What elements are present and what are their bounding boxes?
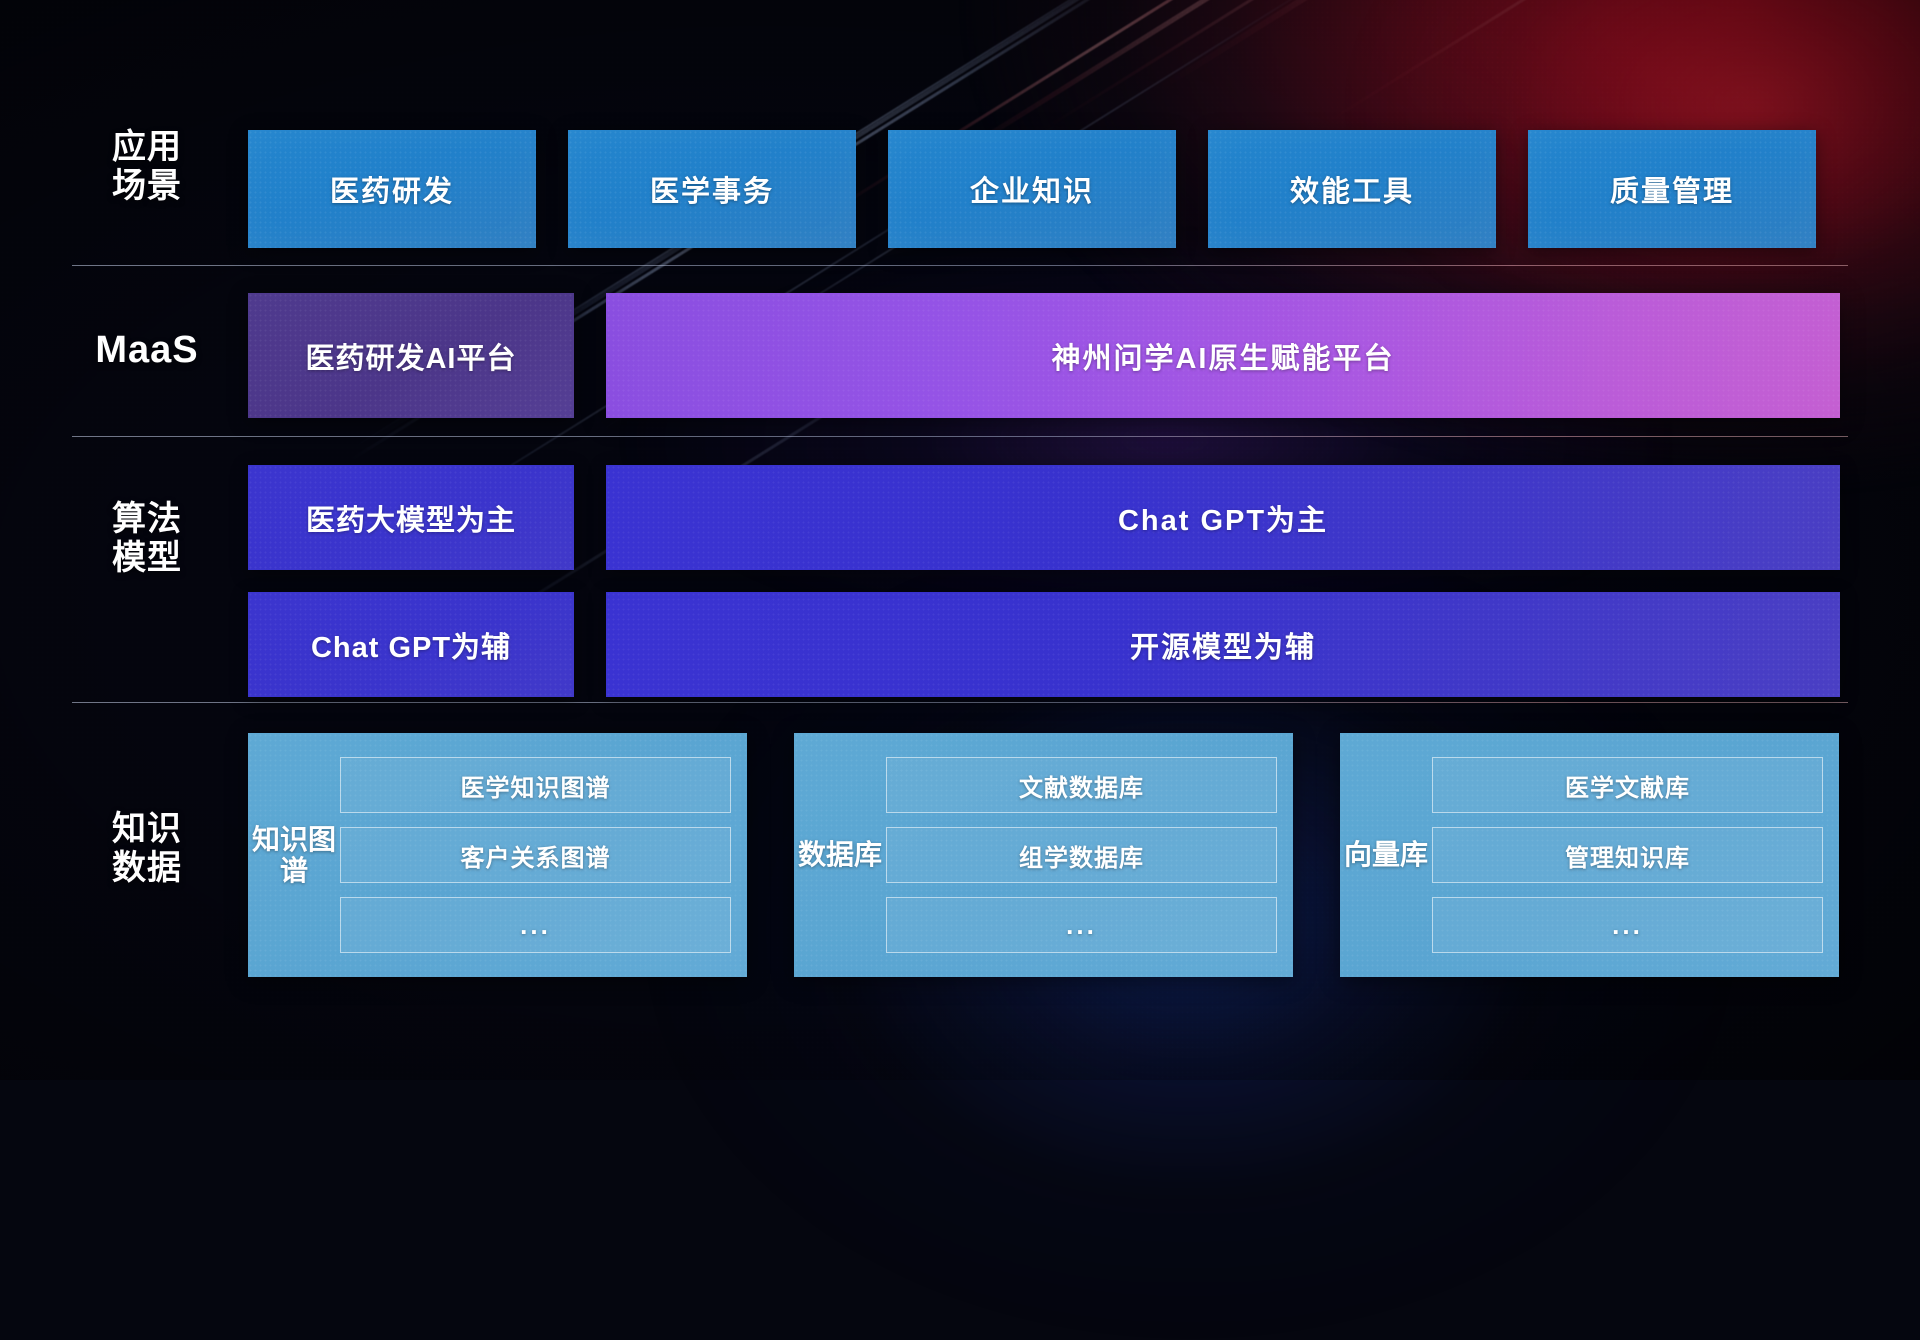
algorithm-box-label: Chat GPT为主 <box>1118 497 1328 539</box>
row-label-maas-line1: MaaS <box>72 328 222 372</box>
knowledge-group-title: 向量库 <box>1340 747 1432 963</box>
scenario-box[interactable]: 医药研发 <box>248 130 536 248</box>
divider-maas-algorithm <box>72 436 1848 437</box>
algorithm-box-grid: 医药大模型为主 Chat GPT为主 Chat GPT为辅 开源模型为辅 <box>248 465 1840 697</box>
knowledge-group-title: 知识图谱 <box>248 747 340 963</box>
knowledge-item[interactable]: 管理知识库 <box>1432 827 1823 883</box>
algorithm-box-label: 开源模型为辅 <box>1130 624 1316 666</box>
scenario-box-label: 医药研发 <box>330 168 454 210</box>
scenario-box[interactable]: 医学事务 <box>568 130 856 248</box>
maas-box-list: 医药研发AI平台 神州问学AI原生赋能平台 <box>248 293 1840 418</box>
maas-box-native-ai-platform[interactable]: 神州问学AI原生赋能平台 <box>606 293 1840 418</box>
knowledge-item-list: 文献数据库 组学数据库 ... <box>886 747 1277 963</box>
knowledge-item[interactable]: 医学文献库 <box>1432 757 1823 813</box>
knowledge-item[interactable]: 医学知识图谱 <box>340 757 731 813</box>
row-label-scenario-line2: 场景 <box>72 167 222 206</box>
knowledge-item-list: 医学知识图谱 客户关系图谱 ... <box>340 747 731 963</box>
algorithm-box-secondary-left[interactable]: Chat GPT为辅 <box>248 592 574 697</box>
row-label-scenario: 应用 场景 <box>72 128 222 207</box>
scenario-box-label: 医学事务 <box>650 168 774 210</box>
maas-box-label: 医药研发AI平台 <box>305 335 516 377</box>
algorithm-box-label: 医药大模型为主 <box>306 497 516 539</box>
algorithm-box-primary-right[interactable]: Chat GPT为主 <box>606 465 1840 570</box>
scenario-box-label: 效能工具 <box>1290 168 1414 210</box>
algorithm-box-secondary-right[interactable]: 开源模型为辅 <box>606 592 1840 697</box>
knowledge-item-list: 医学文献库 管理知识库 ... <box>1432 747 1823 963</box>
maas-box-drug-rnd-platform[interactable]: 医药研发AI平台 <box>248 293 574 418</box>
knowledge-group-title: 数据库 <box>794 747 886 963</box>
knowledge-item-more[interactable]: ... <box>1432 897 1823 953</box>
knowledge-item[interactable]: 客户关系图谱 <box>340 827 731 883</box>
row-label-algorithm: 算法 模型 <box>72 500 222 579</box>
architecture-diagram: 应用 场景 MaaS 算法 模型 知识 数据 医药研发 医学事务 企业知识 效能… <box>0 0 1920 1080</box>
divider-algorithm-knowledge <box>72 702 1848 703</box>
knowledge-group-list: 知识图谱 医学知识图谱 客户关系图谱 ... 数据库 文献数据库 组学数据库 .… <box>248 733 1839 977</box>
scenario-box[interactable]: 企业知识 <box>888 130 1176 248</box>
row-label-scenario-line1: 应用 <box>72 128 222 167</box>
algorithm-row-secondary: Chat GPT为辅 开源模型为辅 <box>248 592 1840 697</box>
divider-scenario-maas <box>72 265 1848 266</box>
scenario-box-label: 质量管理 <box>1610 168 1734 210</box>
row-label-knowledge-line1: 知识 <box>72 810 222 849</box>
scenario-box-list: 医药研发 医学事务 企业知识 效能工具 质量管理 <box>248 130 1816 248</box>
knowledge-group-vector-store[interactable]: 向量库 医学文献库 管理知识库 ... <box>1340 733 1839 977</box>
scenario-box[interactable]: 质量管理 <box>1528 130 1816 248</box>
knowledge-group-knowledge-graph[interactable]: 知识图谱 医学知识图谱 客户关系图谱 ... <box>248 733 747 977</box>
scenario-box-label: 企业知识 <box>970 168 1094 210</box>
maas-box-label: 神州问学AI原生赋能平台 <box>1051 335 1394 377</box>
knowledge-group-database[interactable]: 数据库 文献数据库 组学数据库 ... <box>794 733 1293 977</box>
knowledge-item-more[interactable]: ... <box>340 897 731 953</box>
algorithm-box-primary-left[interactable]: 医药大模型为主 <box>248 465 574 570</box>
row-label-knowledge: 知识 数据 <box>72 810 222 889</box>
knowledge-item[interactable]: 组学数据库 <box>886 827 1277 883</box>
row-label-algorithm-line1: 算法 <box>72 500 222 539</box>
row-label-maas: MaaS <box>72 328 222 372</box>
knowledge-item[interactable]: 文献数据库 <box>886 757 1277 813</box>
scenario-box[interactable]: 效能工具 <box>1208 130 1496 248</box>
algorithm-row-primary: 医药大模型为主 Chat GPT为主 <box>248 465 1840 570</box>
algorithm-box-label: Chat GPT为辅 <box>311 624 511 666</box>
row-label-algorithm-line2: 模型 <box>72 539 222 578</box>
knowledge-item-more[interactable]: ... <box>886 897 1277 953</box>
row-label-knowledge-line2: 数据 <box>72 849 222 888</box>
